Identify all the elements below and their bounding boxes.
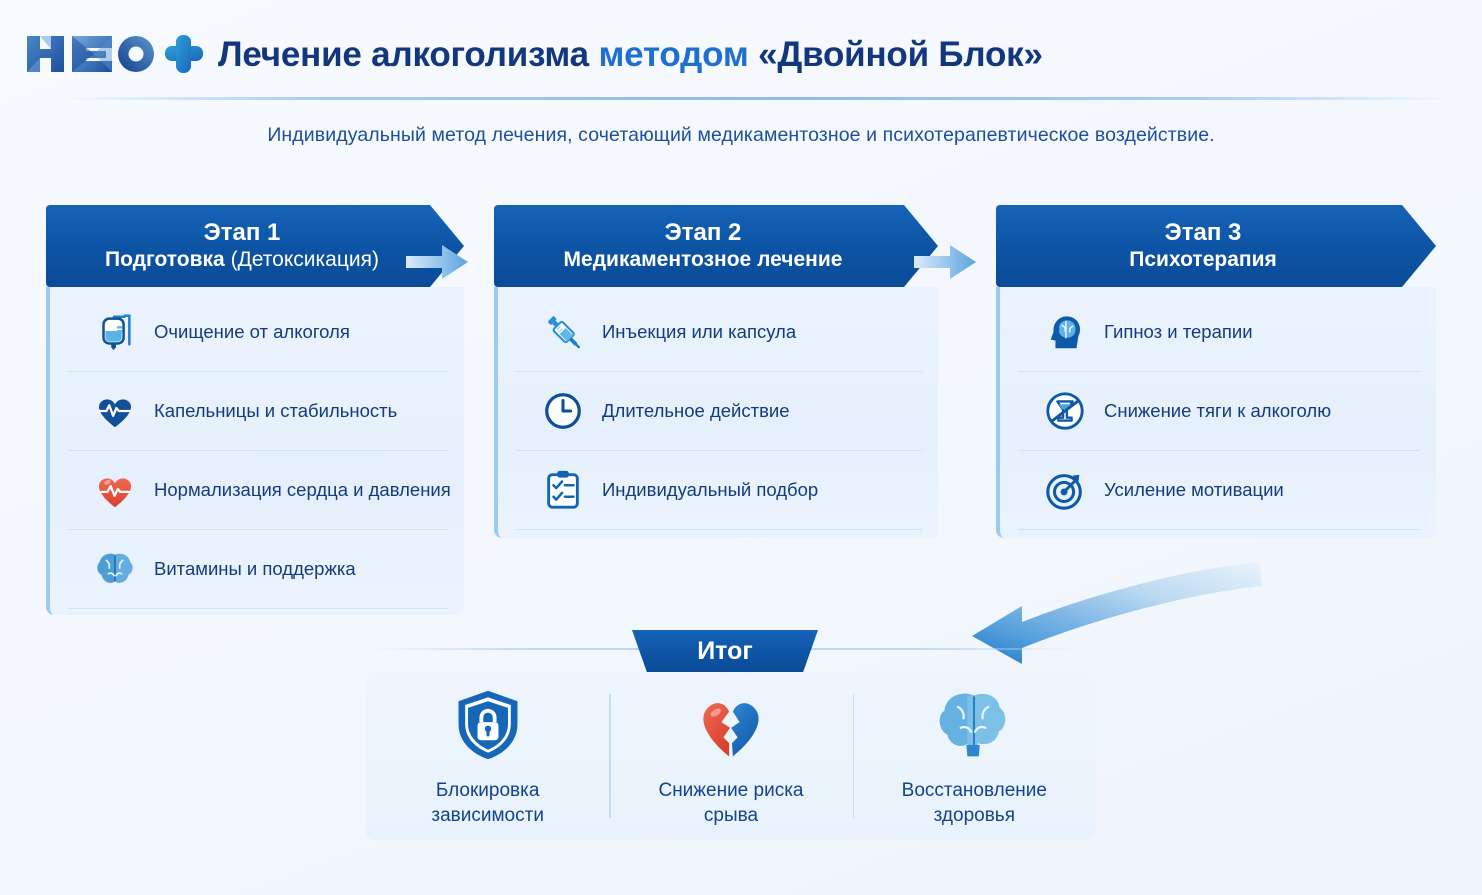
list-item[interactable]: Снижение тяги к алкоголю (1018, 372, 1420, 451)
result-label-line2: зависимости (431, 805, 544, 826)
stage-1-body: Очищение от алкоголя Капельницы и стабил… (46, 287, 464, 615)
stage-2-header: Этап 2 Медикаментозное лечение (494, 205, 938, 287)
stage-2-name: Медикаментозное лечение (564, 248, 843, 272)
stage-3: Этап 3 Психотерапия Гипноз и терапии (996, 205, 1436, 538)
page-title: Лечение алкоголизма методом «Двойной Бло… (218, 35, 1043, 75)
result-panel: Блокировка зависимости Снижение (366, 672, 1096, 840)
list-item[interactable]: Усиление мотивации (1018, 451, 1420, 530)
title-part-2: методом (598, 35, 748, 74)
list-item-label: Очищение от алкоголя (154, 321, 350, 343)
neo-plus-logo (24, 28, 206, 78)
stage-2-number: Этап 2 (665, 220, 742, 247)
list-item-label: Капельницы и стабильность (154, 400, 397, 422)
list-item[interactable]: Капельницы и стабильность (68, 372, 448, 451)
result-label-line1: Блокировка (436, 780, 540, 801)
list-item-label: Гипноз и терапии (1104, 321, 1253, 343)
result-card-label: Восстановление здоровья (902, 778, 1047, 828)
stage-2-name-bold: Медикаментозное лечение (564, 248, 843, 271)
stage-3-number: Этап 3 (1165, 220, 1242, 247)
heart-pulse-red-icon (92, 467, 138, 513)
list-item[interactable]: Витамины и поддержка (68, 530, 448, 609)
result-card-label: Снижение риска срыва (658, 778, 803, 828)
stage-3-header: Этап 3 Психотерапия (996, 205, 1436, 287)
result-card-recovery[interactable]: Восстановление здоровья (853, 672, 1096, 840)
page-subtitle: Индивидуальный метод лечения, сочетающий… (0, 124, 1482, 147)
list-item[interactable]: Очищение от алкоголя (68, 293, 448, 372)
header-divider (60, 97, 1450, 100)
stage-1-name-bold: Подготовка (105, 248, 225, 271)
list-item[interactable]: Длительное действие (516, 372, 922, 451)
stage-3-body: Гипноз и терапии Снижение тяги к алкогол… (996, 287, 1436, 538)
result-label-line1: Восстановление (902, 780, 1047, 801)
stage-connector-arrow-2 (912, 242, 978, 282)
title-part-3: «Двойной Блок» (758, 35, 1043, 74)
syringe-icon (540, 309, 586, 355)
brain-health-icon (933, 684, 1015, 766)
list-item-label: Длительное действие (602, 400, 790, 422)
stage-3-name: Психотерапия (1129, 248, 1276, 272)
no-alcohol-icon (1042, 388, 1088, 434)
heart-pulse-blue-icon (92, 388, 138, 434)
page-header: Лечение алкоголизма методом «Двойной Бло… (0, 0, 1482, 100)
list-item-label: Витамины и поддержка (154, 558, 356, 580)
iv-drip-icon (92, 309, 138, 355)
list-item-label: Инъекция или капсула (602, 321, 796, 343)
list-item-label: Снижение тяги к алкоголю (1104, 400, 1331, 422)
result-card-relapse[interactable]: Снижение риска срыва (609, 672, 852, 840)
list-item[interactable]: Индивидуальный подбор (516, 451, 922, 530)
stage-1-name: Подготовка (Детоксикация) (105, 248, 379, 272)
stage-2-body: Инъекция или капсула Длительное действие (494, 287, 938, 538)
list-item[interactable]: Гипноз и терапии (1018, 293, 1420, 372)
result-ribbon: Итог (632, 630, 818, 672)
result-label-line2: здоровья (934, 805, 1015, 826)
broken-heart-icon (690, 684, 772, 766)
result-label-line1: Снижение риска (658, 780, 803, 801)
stage-1-name-light: (Детоксикация) (231, 248, 379, 271)
flow-curved-arrow (960, 540, 1270, 670)
head-brain-icon (1042, 309, 1088, 355)
clipboard-checklist-icon (540, 467, 586, 513)
list-item[interactable]: Нормализация сердца и давления (68, 451, 448, 530)
stage-1: Этап 1 Подготовка (Детоксикация) Очищени… (46, 205, 464, 615)
stage-1-number: Этап 1 (204, 220, 281, 247)
stage-connector-arrow-1 (404, 242, 470, 282)
result-card-blockade[interactable]: Блокировка зависимости (366, 672, 609, 840)
target-arrow-icon (1042, 467, 1088, 513)
stage-1-header: Этап 1 Подготовка (Детоксикация) (46, 205, 464, 287)
brain-icon (92, 546, 138, 592)
result-label-line2: срыва (704, 805, 758, 826)
title-part-1: Лечение алкоголизма (218, 35, 589, 74)
list-item-label: Индивидуальный подбор (602, 479, 818, 501)
list-item-label: Усиление мотивации (1104, 479, 1284, 501)
stage-3-name-bold: Психотерапия (1129, 248, 1276, 271)
list-item-label: Нормализация сердца и давления (154, 479, 451, 501)
result-card-label: Блокировка зависимости (431, 778, 544, 828)
stage-2: Этап 2 Медикаментозное лечение (494, 205, 938, 538)
shield-lock-icon (447, 684, 529, 766)
list-item[interactable]: Инъекция или капсула (516, 293, 922, 372)
clock-icon (540, 388, 586, 434)
